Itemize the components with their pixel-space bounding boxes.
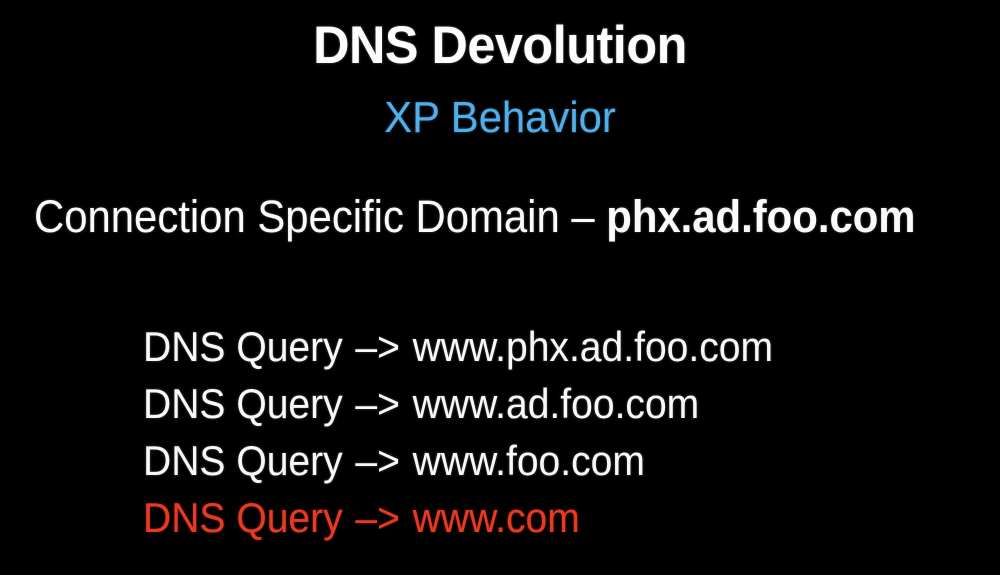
dns-query-target: www.com — [402, 494, 580, 541]
slide-subtitle: XP Behavior — [25, 94, 975, 142]
dns-query-list: DNS Query –> www.phx.ad.foo.com DNS Quer… — [143, 318, 963, 546]
arrow-icon: –> — [354, 323, 402, 370]
dns-query-line-highlighted: DNS Query –> www.com — [143, 489, 906, 546]
dns-query-label: DNS Query — [143, 494, 354, 541]
arrow-icon: –> — [354, 494, 402, 541]
dns-query-label: DNS Query — [143, 380, 354, 427]
dns-query-label: DNS Query — [143, 437, 354, 484]
connection-specific-domain-separator: – — [571, 191, 606, 242]
dns-query-target: www.ad.foo.com — [402, 380, 699, 427]
dns-query-line: DNS Query –> www.foo.com — [143, 432, 906, 489]
dns-query-line: DNS Query –> www.ad.foo.com — [143, 375, 906, 432]
dns-query-target: www.foo.com — [402, 437, 645, 484]
arrow-icon: –> — [354, 380, 402, 427]
connection-specific-domain-value: phx.ad.foo.com — [606, 191, 915, 242]
arrow-icon: –> — [354, 437, 402, 484]
dns-query-line: DNS Query –> www.phx.ad.foo.com — [143, 318, 906, 375]
connection-specific-domain-line: Connection Specific Domain – phx.ad.foo.… — [34, 192, 915, 242]
dns-query-label: DNS Query — [143, 323, 354, 370]
slide-title: DNS Devolution — [25, 17, 975, 74]
connection-specific-domain-label: Connection Specific Domain — [34, 191, 571, 242]
dns-query-target: www.phx.ad.foo.com — [402, 323, 773, 370]
presentation-slide: DNS Devolution XP Behavior Connection Sp… — [0, 0, 1000, 575]
